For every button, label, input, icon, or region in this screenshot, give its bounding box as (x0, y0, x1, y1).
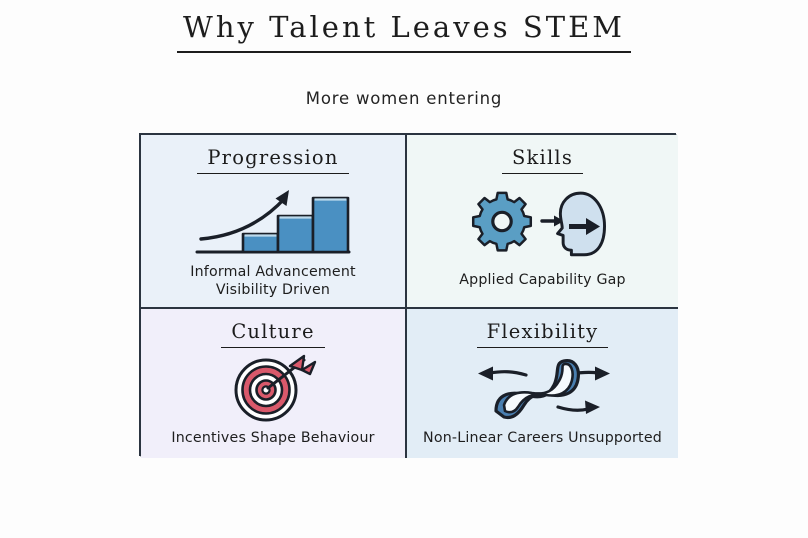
quadrant-progression-icon-area (141, 172, 405, 263)
page-title: Why Talent Leaves STEM (177, 10, 631, 53)
quadrant-skills-caption: Applied Capability Gap (453, 271, 632, 289)
quadrant-flexibility-icon-area (407, 344, 678, 429)
quadrant-progression-caption: Informal Advancement Visibility Driven (184, 263, 362, 299)
quadrant-matrix: Progression Informal Advancement Visibil… (139, 133, 676, 456)
quadrant-flexibility-caption: Non-Linear Careers Unsupported (417, 429, 668, 447)
quadrant-culture: Culture Incentives Shape Behaviour (141, 309, 407, 458)
quadrant-progression: Progression Informal Advancement Visibil… (141, 135, 407, 309)
twisted-ribbon-with-arrows-icon (468, 349, 618, 425)
target-with-dart-icon (218, 348, 328, 426)
quadrant-culture-icon-area (141, 344, 405, 429)
ascending-bar-chart-with-upward-arrow-icon (189, 176, 357, 260)
quadrant-skills: Skills Applied Capability Gap (407, 135, 678, 309)
quadrant-skills-heading: Skills (502, 146, 583, 174)
quadrant-progression-heading: Progression (197, 146, 348, 174)
quadrant-flexibility: Flexibility Non-Linear Careers Unsupport… (407, 309, 678, 458)
title-container: Why Talent Leaves STEM (0, 10, 808, 53)
quadrant-culture-caption: Incentives Shape Behaviour (165, 429, 380, 447)
quadrant-skills-icon-area (407, 174, 678, 271)
gear-to-head-arrow-icon (468, 183, 618, 263)
subtitle: More women entering (0, 89, 808, 108)
